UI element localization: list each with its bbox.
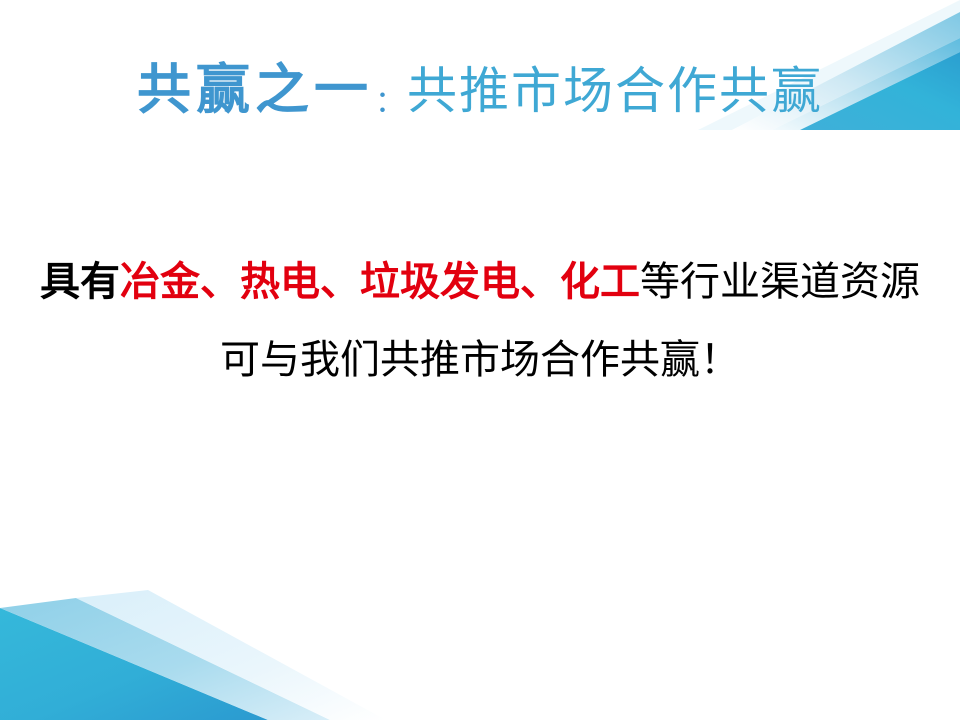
slide-body: 具有冶金、热电、垃圾发电、化工等行业渠道资源 可与我们共推市场合作共赢！ [0,243,960,399]
body-segment-lead: 具有 [40,259,120,305]
body-segment-highlight: 冶金、热电、垃圾发电、化工 [120,259,640,305]
body-segment-tail: 等行业渠道资源 [640,259,920,305]
slide-canvas: 共赢之一：共推市场合作共赢 具有冶金、热电、垃圾发电、化工等行业渠道资源 可与我… [0,0,960,720]
body-line-1: 具有冶金、热电、垃圾发电、化工等行业渠道资源 [0,243,960,321]
title-subtitle-text: 共推市场合作共赢 [407,62,823,120]
body-line-2: 可与我们共推市场合作共赢！ [0,321,960,399]
ribbon-band-solid [0,608,268,720]
ribbon-band-pale [76,590,386,720]
diagonal-ribbon-bottom-left-decoration [0,590,420,720]
ribbon-bottom-left-svg [0,590,420,720]
title-main-text: 共赢之一 [137,57,373,121]
ribbon-band-mid [0,598,330,720]
title-separator: ： [373,85,407,120]
slide-title: 共赢之一：共推市场合作共赢 [0,62,960,116]
